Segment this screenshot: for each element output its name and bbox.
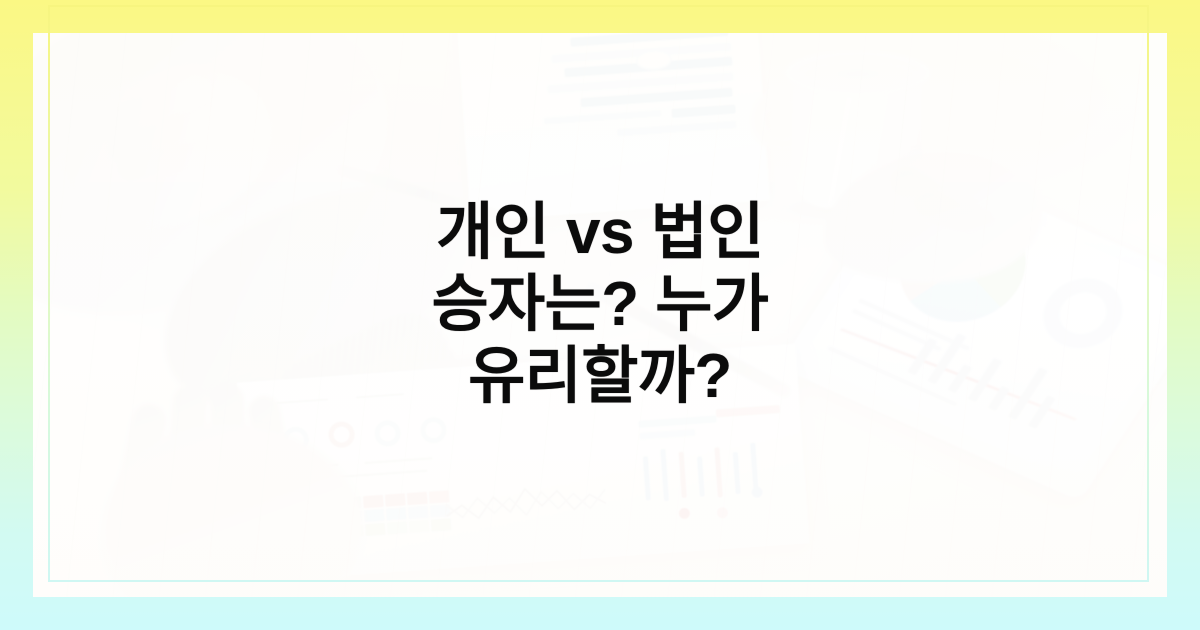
pie-chart	[876, 192, 1049, 340]
mug-handle	[751, 89, 813, 151]
heatmap-cell	[342, 510, 363, 523]
tablet-bar	[1028, 395, 1056, 429]
tablet-device	[778, 155, 1167, 502]
coffee-mug	[793, 63, 923, 208]
heatmap-cell	[320, 512, 341, 525]
heatmap-cell	[386, 507, 407, 520]
doc-row	[544, 110, 662, 125]
mini-bar	[660, 449, 669, 501]
heatmap-cell	[430, 504, 451, 517]
heatmap-cell	[276, 515, 297, 528]
tablet-text-line	[852, 309, 942, 351]
heatmap-cell	[297, 499, 318, 512]
finger	[209, 382, 251, 530]
heatmap-cell	[364, 509, 385, 522]
heatmap-cell	[429, 490, 450, 503]
doc-row	[547, 73, 733, 94]
sheet-text-line	[276, 398, 328, 404]
mini-bar	[679, 452, 687, 498]
doc-row	[564, 57, 732, 78]
sheet-bar	[639, 429, 695, 440]
hand-left	[45, 44, 291, 252]
finger	[911, 187, 1001, 243]
doc-row	[671, 104, 735, 117]
bar-cluster	[642, 441, 787, 521]
sleeve-upper	[33, 33, 419, 344]
finger	[246, 393, 300, 529]
sheet-donut	[282, 426, 310, 454]
photo-plate	[33, 33, 1167, 597]
finger	[164, 384, 208, 526]
doc-row	[580, 88, 732, 108]
tablet-bar	[907, 338, 937, 376]
heatmap-cell	[363, 495, 384, 508]
tablet-bar	[988, 386, 1011, 412]
sheet-bar	[716, 405, 780, 417]
report-document	[456, 33, 770, 221]
mini-bar	[733, 452, 741, 494]
doc-row	[551, 43, 731, 64]
heatmap-cell	[275, 501, 296, 514]
heatmap-cell	[343, 524, 364, 537]
mug-liquid	[799, 60, 917, 88]
tablet-bar	[1008, 367, 1048, 420]
heatmap-cell	[277, 529, 298, 542]
heatmap-cell	[407, 492, 428, 505]
heatmap-cell	[341, 496, 362, 509]
sheet-bar	[638, 415, 716, 427]
line-chart	[444, 475, 607, 532]
inner-frame-top	[48, 5, 1149, 7]
heatmap-cell	[365, 523, 386, 536]
mini-bar	[643, 456, 651, 500]
doc-row	[617, 120, 737, 136]
tablet-bar	[947, 364, 972, 393]
sheet-donut	[328, 421, 356, 449]
donut-chart	[1029, 267, 1137, 360]
tablet-bar	[967, 358, 1002, 402]
tablet-trend-line	[840, 328, 1077, 421]
finger	[111, 401, 169, 525]
heatmap-cell	[431, 518, 452, 531]
hand-bottom	[103, 423, 363, 597]
tablet-text-line	[858, 299, 970, 351]
sheet-donut	[374, 419, 402, 447]
sleeve-ribbing	[264, 300, 478, 487]
sheet-text-line	[278, 470, 428, 482]
doc-row	[570, 33, 728, 47]
heatmap-cell	[387, 521, 408, 534]
sheet-text-line	[365, 457, 433, 464]
background-photo	[33, 33, 1167, 597]
sheet-donut	[420, 416, 448, 444]
sheet-text-line	[277, 464, 339, 470]
mini-bar	[697, 456, 705, 496]
mini-bar	[750, 443, 759, 497]
finger	[92, 72, 215, 145]
heatmap-cell	[385, 493, 406, 506]
tablet-bar	[927, 333, 966, 384]
mug-rim	[785, 51, 931, 95]
finger	[106, 104, 224, 166]
heatmap-cell	[319, 498, 340, 511]
mini-bar	[714, 447, 722, 497]
thumbnail-canvas: 개인 vs 법인 승자는? 누가 유리할까?	[0, 0, 1200, 630]
stylus	[335, 163, 511, 223]
heatmap-cell	[408, 506, 429, 519]
heatmap-cell	[409, 520, 430, 533]
hand-right	[817, 142, 1049, 294]
finger	[886, 163, 985, 232]
tablet-screen	[799, 172, 1167, 483]
finger	[116, 136, 224, 183]
doc-badge	[635, 49, 672, 71]
pen	[583, 280, 792, 399]
tablet-text-line	[827, 346, 957, 406]
heatmap-cell	[321, 526, 342, 539]
sleeve-cuff	[131, 144, 506, 443]
chart-sheet	[237, 344, 810, 583]
chart-dot	[717, 507, 729, 519]
forearm	[217, 309, 669, 593]
chart-dot	[679, 507, 691, 519]
mug-shadow	[768, 193, 953, 225]
heatmap-cell	[298, 513, 319, 526]
tablet-bar-group	[907, 316, 1108, 445]
sheet-text-line	[356, 393, 404, 398]
heatmap-cell	[299, 527, 320, 540]
chart-dot	[751, 486, 763, 498]
